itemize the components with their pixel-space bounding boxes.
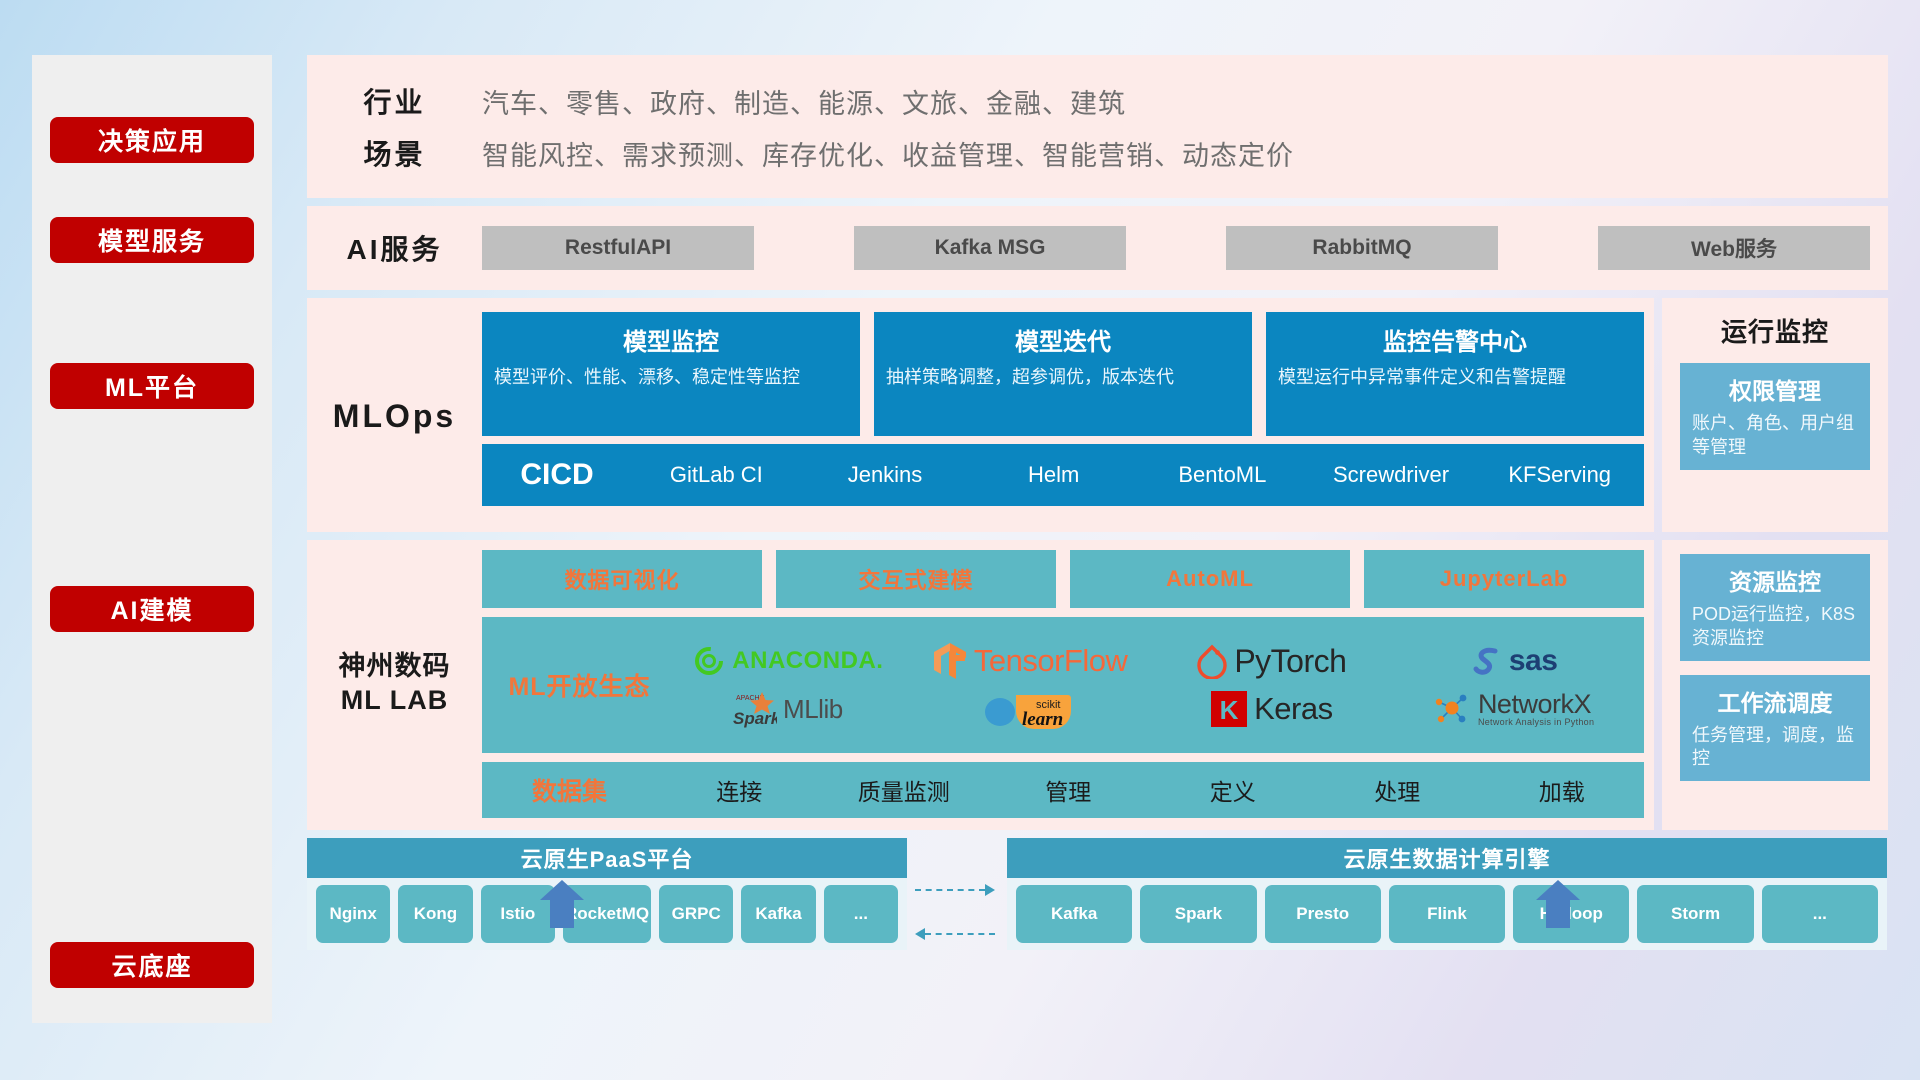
ml-lab-tool-automl[interactable]: AutoML (1070, 550, 1350, 608)
rail-item-label: ML平台 (105, 368, 199, 404)
pytorch-logo: PyTorch (1196, 643, 1346, 680)
ml-lab-label: 神州数码 ML LAB (307, 650, 482, 718)
card-desc: 抽样策略调整，超参调优，版本迭代 (886, 365, 1240, 390)
cloud-chip-flink[interactable]: Flink (1389, 885, 1505, 943)
cloud-compute-title: 云原生数据计算引擎 (1007, 838, 1887, 878)
dataset-item-define[interactable]: 定义 (1151, 773, 1316, 807)
connector-arrowhead-left-icon (915, 928, 925, 940)
cloud-paas-column: 云原生PaaS平台 Nginx Kong Istio RocketMQ GRPC… (307, 838, 907, 950)
spark-mllib-logo: APACHE Spark MLlib (733, 688, 843, 730)
card-desc: 任务管理，调度，监控 (1692, 724, 1858, 772)
run-monitor-panel-continued: 资源监控 POD运行监控，K8S资源监控 工作流调度 任务管理，调度，监控 (1662, 540, 1888, 830)
ml-ecosystem-row: ML开放生态 ANACONDA. (482, 617, 1644, 753)
mllib-logo-text: MLlib (783, 694, 843, 725)
ml-ecosystem-logo-grid: ANACONDA. TensorFlow (667, 637, 1634, 733)
ai-service-label: AI服务 (307, 228, 482, 268)
ai-service-rabbitmq[interactable]: RabbitMQ (1226, 226, 1498, 270)
cloud-paas-chip-list: Nginx Kong Istio RocketMQ GRPC Kafka ... (307, 878, 907, 950)
rail-item-label: 云底座 (111, 947, 192, 983)
connector-line (915, 889, 985, 891)
cloud-chip-kong[interactable]: Kong (398, 885, 472, 943)
cloud-chip-presto[interactable]: Presto (1265, 885, 1381, 943)
svg-text:Spark: Spark (733, 709, 777, 728)
card-desc: 模型评价、性能、漂移、稳定性等监控 (494, 365, 848, 390)
ai-service-kafka-msg[interactable]: Kafka MSG (854, 226, 1126, 270)
run-monitor-card-resource[interactable]: 资源监控 POD运行监控，K8S资源监控 (1680, 554, 1870, 661)
cicd-item-bentoml[interactable]: BentoML (1138, 463, 1307, 486)
industry-value: 汽车、零售、政府、制造、能源、文旅、金融、建筑 (482, 82, 1126, 121)
rail-item-label: 模型服务 (98, 222, 206, 258)
sas-logo-text: sas (1509, 644, 1558, 678)
cicd-item-jenkins[interactable]: Jenkins (801, 463, 970, 486)
dataset-item-process[interactable]: 处理 (1315, 773, 1480, 807)
mlops-card-list: 模型监控 模型评价、性能、漂移、稳定性等监控 模型迭代 抽样策略调整，超参调优，… (482, 312, 1644, 436)
cloud-chip-grpc[interactable]: GRPC (659, 885, 733, 943)
upward-arrow-paas-icon (540, 880, 584, 928)
card-title: 资源监控 (1692, 563, 1858, 597)
cloud-chip-spark[interactable]: Spark (1140, 885, 1256, 943)
dataset-item-connect[interactable]: 连接 (657, 773, 822, 807)
card-desc: 模型运行中异常事件定义和告警提醒 (1278, 365, 1632, 390)
card-title: 模型迭代 (886, 322, 1240, 357)
pytorch-logo-text: PyTorch (1234, 643, 1346, 680)
card-title: 工作流调度 (1692, 684, 1858, 718)
scenario-row: 场景 智能风控、需求预测、库存优化、收益管理、智能营销、动态定价 (307, 127, 1888, 179)
cicd-item-helm[interactable]: Helm (969, 463, 1138, 486)
run-monitor-title: 运行监控 (1680, 312, 1870, 349)
modeling-and-monitor-row: 神州数码 ML LAB 数据可视化 交互式建模 AutoML JupyterLa… (307, 540, 1888, 830)
run-monitor-card-permission[interactable]: 权限管理 账户、角色、用户组等管理 (1680, 363, 1870, 470)
ml-lab-tool-data-visualization[interactable]: 数据可视化 (482, 550, 762, 608)
run-monitor-panel: 运行监控 权限管理 账户、角色、用户组等管理 (1662, 298, 1888, 532)
architecture-diagram: 决策应用 模型服务 ML平台 AI建模 云底座 行业 汽车、零售、政府、制造、能… (0, 0, 1920, 1080)
industry-scenario-band: 行业 汽车、零售、政府、制造、能源、文旅、金融、建筑 场景 智能风控、需求预测、… (307, 55, 1888, 198)
networkx-logo-tagline: Network Analysis in Python (1478, 718, 1594, 727)
keras-logo: K Keras (1210, 690, 1332, 728)
scikit-learn-logo: scikit learn (982, 685, 1078, 733)
connector-line (925, 933, 995, 935)
main-column: 行业 汽车、零售、政府、制造、能源、文旅、金融、建筑 场景 智能风控、需求预测、… (307, 55, 1888, 950)
ml-lab-tool-interactive-modeling[interactable]: 交互式建模 (776, 550, 1056, 608)
rail-item-decision-app[interactable]: 决策应用 (50, 117, 254, 163)
anaconda-logo-text: ANACONDA. (732, 647, 883, 675)
card-desc: POD运行监控，K8S资源监控 (1692, 603, 1858, 651)
rail-item-ml-platform[interactable]: ML平台 (50, 363, 254, 409)
cloud-compute-column: 云原生数据计算引擎 Kafka Spark Presto Flink Hadoo… (1007, 838, 1887, 950)
dataset-label: 数据集 (482, 772, 657, 808)
sas-logo: sas (1469, 644, 1558, 678)
mlops-card-model-iteration[interactable]: 模型迭代 抽样策略调整，超参调优，版本迭代 (874, 312, 1252, 436)
cloud-paas-title: 云原生PaaS平台 (307, 838, 907, 878)
svg-text:learn: learn (1022, 709, 1063, 730)
ml-lab-tool-jupyterlab[interactable]: JupyterLab (1364, 550, 1644, 608)
dataset-item-quality-monitor[interactable]: 质量监测 (822, 773, 987, 807)
connector-arrowhead-right-icon (985, 884, 995, 896)
cloud-compute-chip-list: Kafka Spark Presto Flink Hadoop Storm ..… (1007, 878, 1887, 950)
rail-item-cloud-base[interactable]: 云底座 (50, 942, 254, 988)
card-desc: 账户、角色、用户组等管理 (1692, 412, 1858, 460)
cicd-label: CICD (482, 458, 632, 492)
svg-text:K: K (1220, 695, 1239, 725)
dataset-row: 数据集 连接 质量监测 管理 定义 处理 加载 (482, 762, 1644, 818)
run-monitor-card-workflow[interactable]: 工作流调度 任务管理，调度，监控 (1680, 675, 1870, 782)
mlops-label: MLOps (307, 398, 482, 435)
cloud-chip-more-right[interactable]: ... (1762, 885, 1878, 943)
mlops-card-model-monitoring[interactable]: 模型监控 模型评价、性能、漂移、稳定性等监控 (482, 312, 860, 436)
rail-item-label: 决策应用 (98, 122, 206, 158)
cicd-item-screwdriver[interactable]: Screwdriver (1307, 463, 1476, 486)
ai-service-list: RestfulAPI Kafka MSG RabbitMQ Web服务 (482, 226, 1888, 270)
ai-service-web[interactable]: Web服务 (1598, 226, 1870, 270)
industry-row: 行业 汽车、零售、政府、制造、能源、文旅、金融、建筑 (307, 75, 1888, 127)
cloud-chip-nginx[interactable]: Nginx (316, 885, 390, 943)
mlops-band: MLOps 模型监控 模型评价、性能、漂移、稳定性等监控 模型迭代 抽样策略调整… (307, 298, 1654, 532)
rail-item-label: AI建模 (110, 591, 193, 627)
tensorflow-logo: TensorFlow (932, 641, 1128, 681)
connector-arrow-left (915, 928, 995, 940)
ml-lab-label-line1: 神州数码 (307, 650, 482, 684)
upward-arrow-compute-icon (1536, 880, 1580, 928)
connector-arrow-right (915, 884, 995, 896)
ml-ecosystem-label: ML开放生态 (492, 667, 667, 703)
cloud-connector (907, 838, 1007, 950)
networkx-logo-text: NetworkX (1478, 691, 1594, 718)
rail-item-ai-modeling[interactable]: AI建模 (50, 586, 254, 632)
card-title: 监控告警中心 (1278, 322, 1632, 357)
industry-label: 行业 (307, 81, 482, 121)
cicd-item-kfserving[interactable]: KFServing (1475, 463, 1644, 486)
tensorflow-logo-text: TensorFlow (974, 643, 1128, 679)
card-title: 模型监控 (494, 322, 848, 357)
networkx-logo: NetworkX Network Analysis in Python (1432, 690, 1594, 728)
card-title: 权限管理 (1692, 372, 1858, 406)
ml-lab-content: 数据可视化 交互式建模 AutoML JupyterLab ML开放生态 (482, 550, 1644, 818)
cicd-row: CICD GitLab CI Jenkins Helm BentoML Scre… (482, 444, 1644, 506)
anaconda-logo: ANACONDA. (692, 644, 883, 678)
mlops-card-alert-center[interactable]: 监控告警中心 模型运行中异常事件定义和告警提醒 (1266, 312, 1644, 436)
mlops-content: 模型监控 模型评价、性能、漂移、稳定性等监控 模型迭代 抽样策略调整，超参调优，… (482, 312, 1644, 520)
ml-lab-label-line2: ML LAB (307, 684, 482, 718)
cloud-chip-more-left[interactable]: ... (824, 885, 898, 943)
layer-rail: 决策应用 模型服务 ML平台 AI建模 云底座 (32, 55, 272, 1023)
mlops-and-monitor-row: MLOps 模型监控 模型评价、性能、漂移、稳定性等监控 模型迭代 抽样策略调整… (307, 298, 1888, 532)
cloud-chip-storm[interactable]: Storm (1637, 885, 1753, 943)
keras-logo-text: Keras (1254, 691, 1332, 727)
scenario-value: 智能风控、需求预测、库存优化、收益管理、智能营销、动态定价 (482, 134, 1294, 173)
ai-service-band: AI服务 RestfulAPI Kafka MSG RabbitMQ Web服务 (307, 206, 1888, 290)
ml-lab-band: 神州数码 ML LAB 数据可视化 交互式建模 AutoML JupyterLa… (307, 540, 1654, 830)
ml-lab-tool-list: 数据可视化 交互式建模 AutoML JupyterLab (482, 550, 1644, 608)
rail-item-model-service[interactable]: 模型服务 (50, 217, 254, 263)
scenario-label: 场景 (307, 133, 482, 173)
cicd-item-gitlab-ci[interactable]: GitLab CI (632, 463, 801, 486)
dataset-item-manage[interactable]: 管理 (986, 773, 1151, 807)
ai-service-restfulapi[interactable]: RestfulAPI (482, 226, 754, 270)
dataset-item-load[interactable]: 加载 (1480, 773, 1645, 807)
cloud-chip-kafka[interactable]: Kafka (741, 885, 815, 943)
cloud-chip-kafka-r[interactable]: Kafka (1016, 885, 1132, 943)
